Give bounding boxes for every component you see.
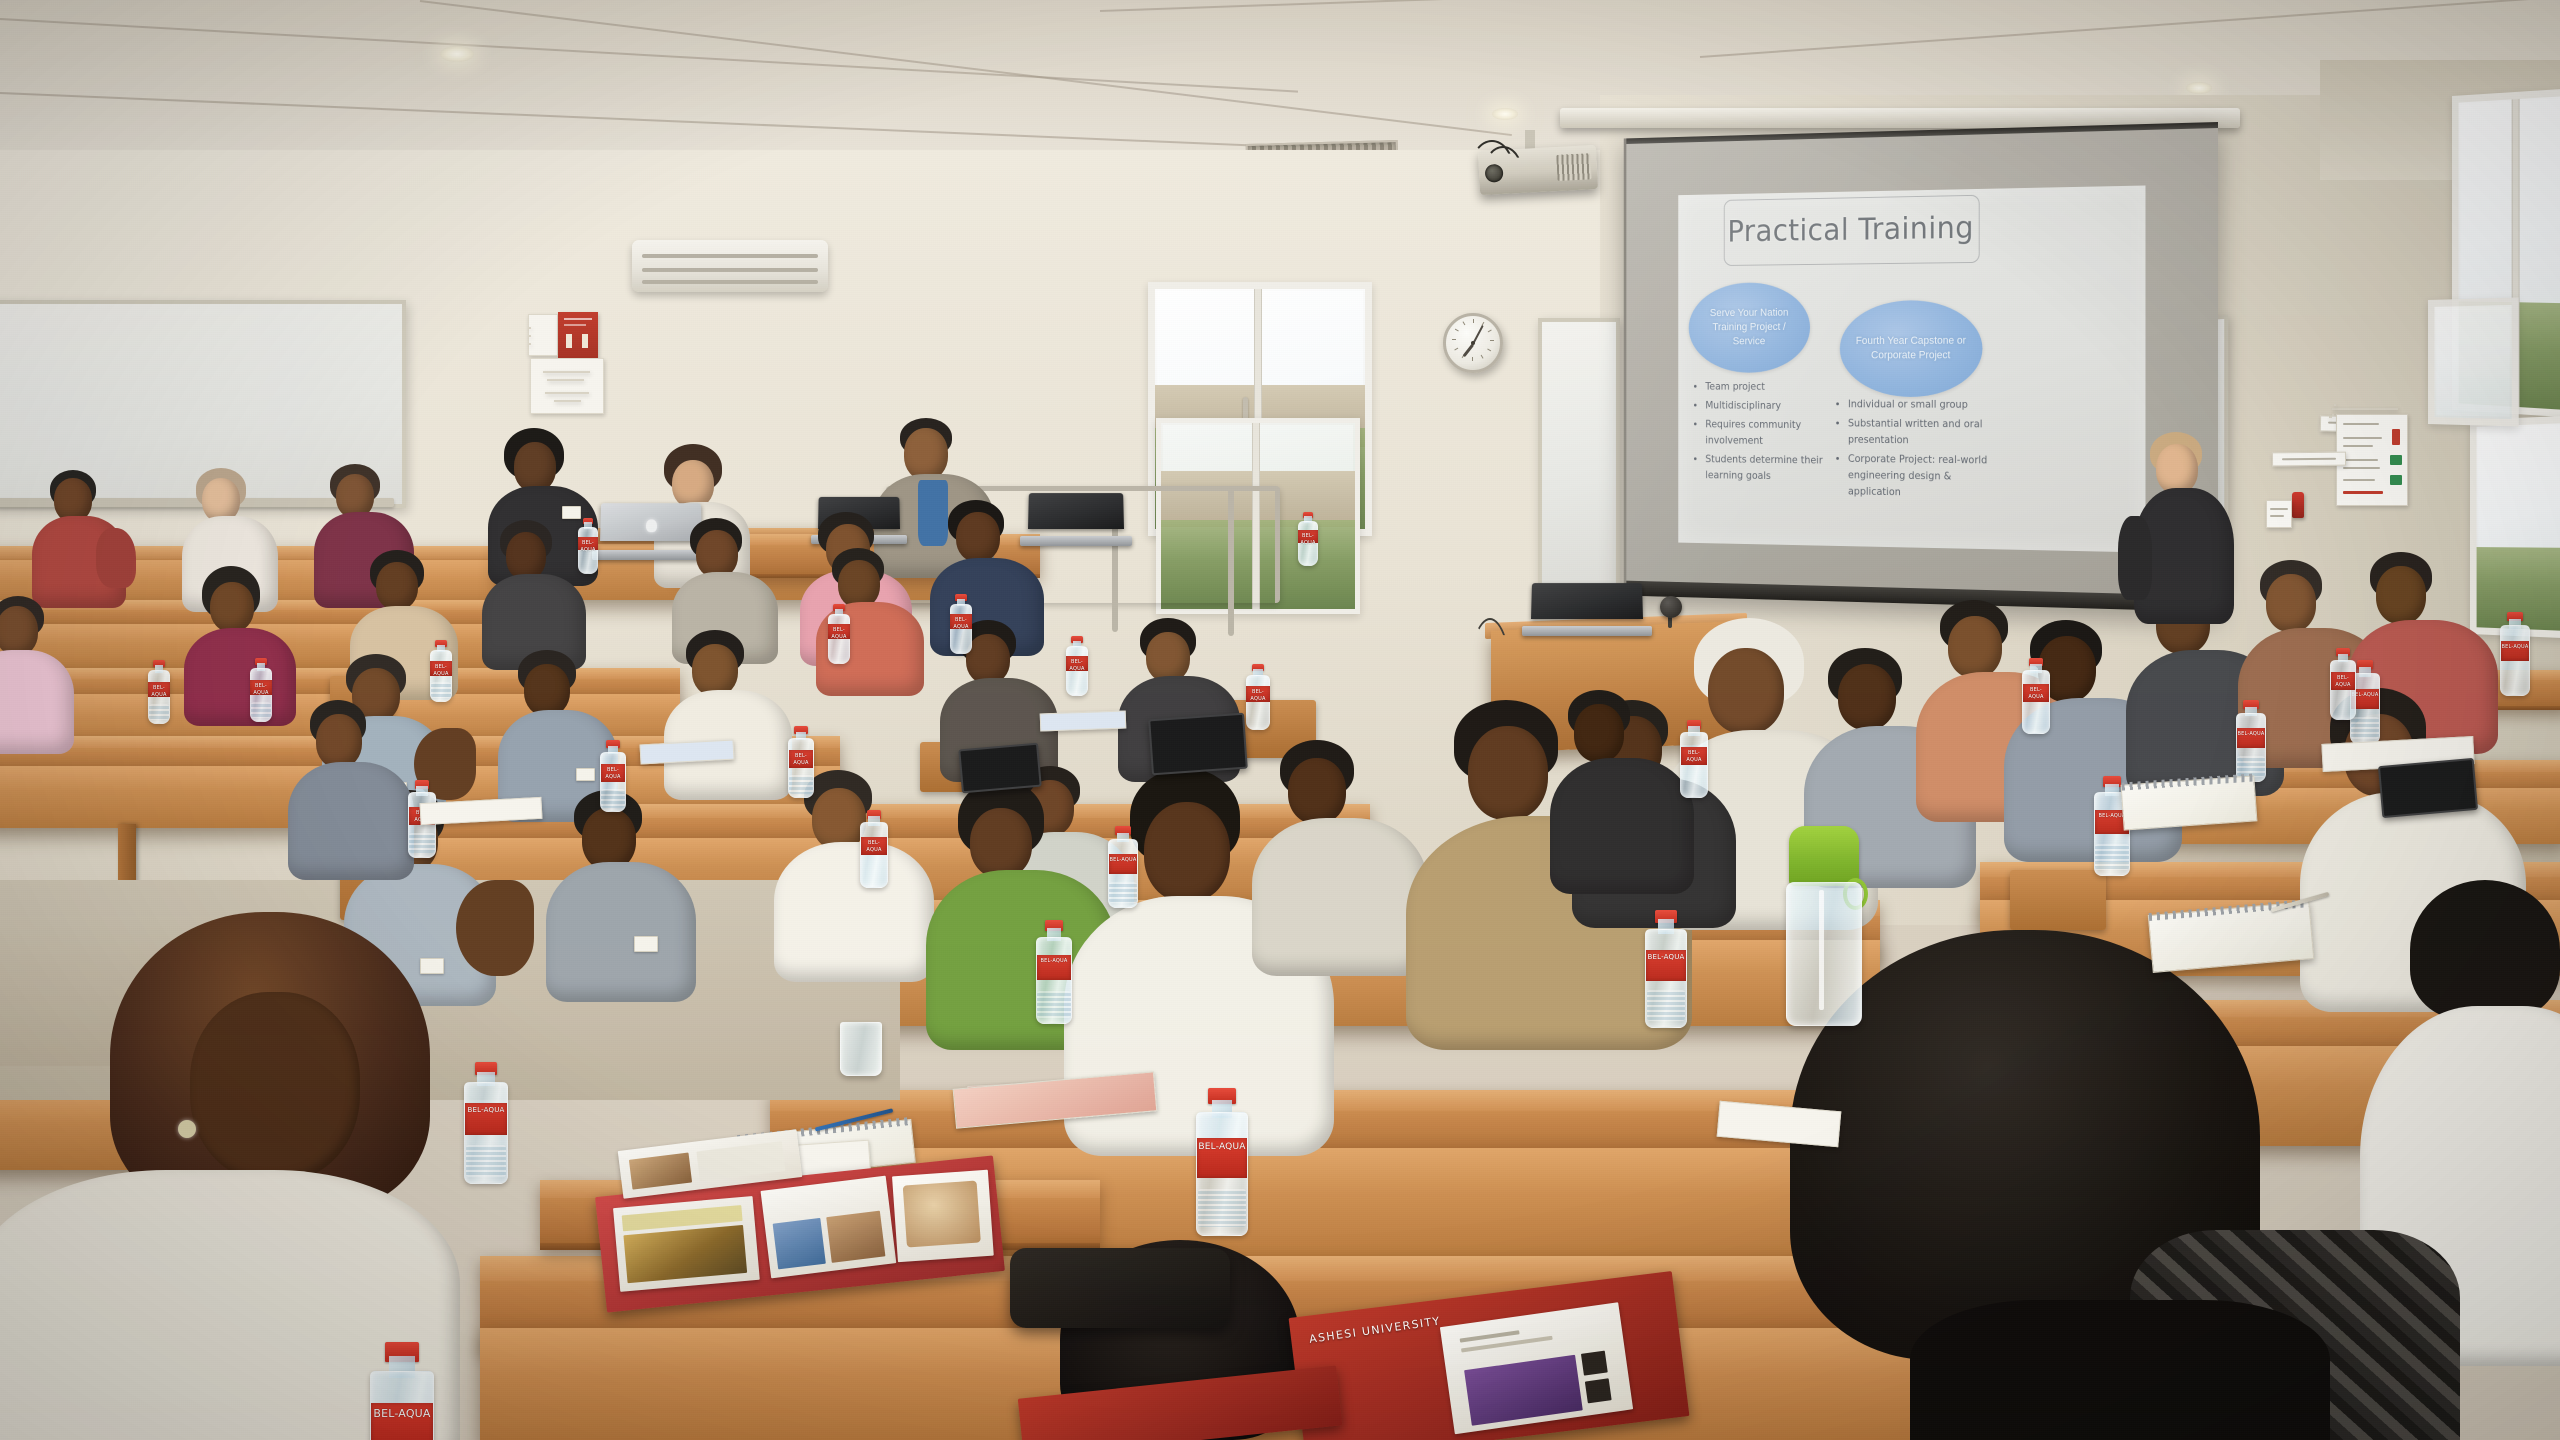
bag-under-desk [1010,1248,1230,1328]
water-bottle: BEL-AQUA [370,1342,434,1440]
window-right-lower [2470,415,2560,639]
water-bottle: BEL-AQUA [1645,910,1687,1028]
slide-ellipse-right: Fourth Year Capstone or Corporate Projec… [1840,300,1983,397]
railing-post [1228,486,1234,636]
slide-bullet: Students determine their learning goals [1705,452,1827,486]
water-bottle: BEL-AQUA [860,810,888,888]
laptop [1028,492,1124,546]
tablet-device [2378,758,2478,818]
wall-clock [1443,313,1503,373]
chair-back [2010,870,2106,930]
poster-white-left [528,314,558,356]
macbook-laptop [600,502,702,560]
water-bottle: BEL-AQUA [1680,720,1708,798]
loose-papers [1040,711,1127,732]
sports-water-bottle [1786,826,1862,1026]
slide-bullet: Individual or small group [1848,397,2000,414]
brochure [761,1176,897,1279]
shirt-placket [918,480,948,546]
brochure [613,1196,760,1292]
noop2 [2334,404,2336,406]
tablet-device [958,743,1042,794]
poster-red-anti-litter [558,312,598,358]
presenter-laptop [1531,582,1643,636]
desk-microphone [1660,596,1682,618]
slide-ellipse-left: Serve Your Nation Training Project / Ser… [1689,282,1810,373]
earring [178,1120,196,1138]
water-bottle: BEL-AQUA [430,640,452,702]
clock-hour-hand [1463,344,1475,358]
wall-label-strip [2272,452,2346,467]
slide-bullet: Team project [1705,379,1827,395]
projector-vents [1556,153,1591,181]
apple-logo-icon [646,520,657,533]
slide-bullet: Substantial written and oral presentatio… [1848,416,2000,450]
water-bottle: BEL-AQUA [464,1062,508,1184]
slide-bullet: Requires community involvement [1705,417,1827,450]
tablet-device [1148,713,1248,776]
projected-slide: Practical Training Serve Your Nation Tra… [1678,186,2145,553]
water-bottle: BEL-AQUA [2236,700,2266,782]
slide-title: Practical Training [1724,205,1978,255]
shoulders [1910,1300,2330,1440]
fire-action-notice [2336,414,2408,506]
water-bottle: BEL-AQUA [1066,636,1088,696]
wall-sign-spacer [2332,408,2398,410]
poster-anti-litter-text [530,358,604,414]
water-bottle: BEL-AQUA [1246,664,1270,730]
ceiling-downlight [2186,82,2212,94]
ceiling-downlight [1492,108,1518,120]
water-bottle: BEL-AQUA [600,740,626,812]
water-bottle: BEL-AQUA [1196,1088,1248,1236]
water-bottle: BEL-AQUA [1036,920,1072,1024]
air-conditioner-unit [632,240,828,292]
water-bottle: BEL-AQUA [1108,826,1138,908]
slide-bullets-left: Team projectMultidisciplinaryRequires co… [1694,379,1827,488]
slide-bullets-right: Individual or small groupSubstantial wri… [1836,397,2000,506]
water-bottle: BEL-AQUA [2500,612,2530,696]
noop3 [2330,416,2332,418]
whiteboard-right [1538,318,1620,590]
slide-bullet: Multidisciplinary [1705,398,1827,415]
sports-bottle-straw [1819,890,1824,1010]
extinguisher-placard [2266,500,2292,528]
sports-bottle-cap [1789,826,1859,886]
water-bottle: BEL-AQUA [788,726,814,798]
slide-bullet: Corporate Project: real-world engineerin… [1848,451,2000,502]
plastic-cup [840,1022,882,1076]
water-bottle: BEL-AQUA [828,604,850,664]
noop [2332,414,2334,416]
water-bottle: BEL-AQUA [2330,648,2356,720]
spiral-notebook [2121,775,2258,830]
window-right-mid [2428,297,2519,426]
water-bottle: BEL-AQUA [148,660,170,724]
water-bottle: BEL-AQUA [250,658,272,722]
water-bottle: BEL-AQUA [578,518,598,574]
lecture-hall-photograph: Practical Training Serve Your Nation Tra… [0,0,2560,1440]
fire-extinguisher-icon [2292,492,2304,518]
water-bottle: BEL-AQUA [2022,658,2050,734]
water-bottle: BEL-AQUA [1298,512,1318,566]
water-bottle: BEL-AQUA [950,594,972,654]
programme-insert [1440,1302,1633,1434]
brochure [892,1170,994,1262]
ceiling-downlight [440,46,474,62]
